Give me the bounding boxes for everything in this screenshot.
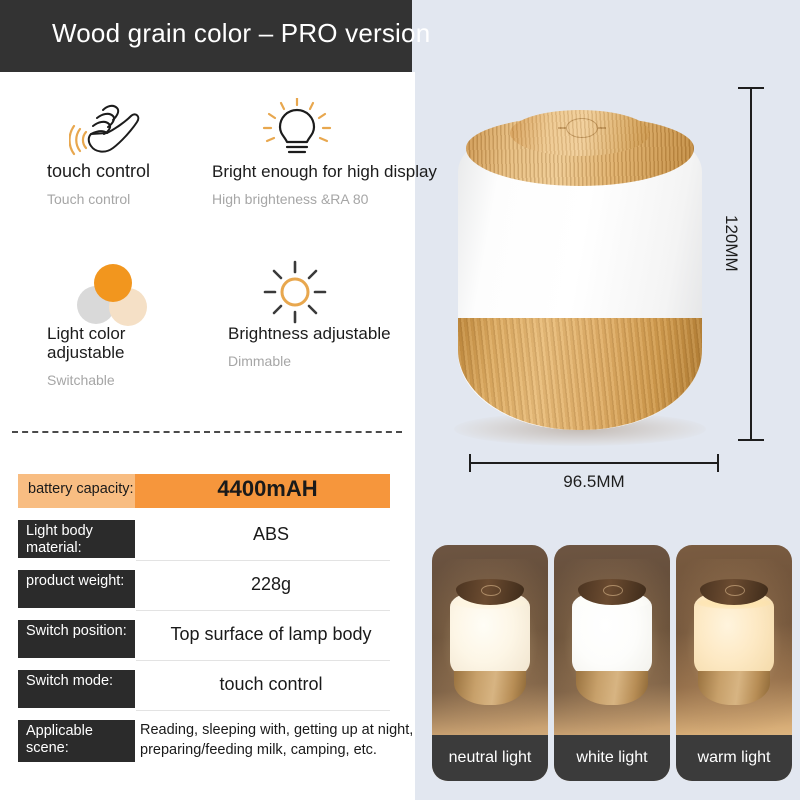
row-rule (136, 660, 390, 661)
width-dim-cap-right (717, 454, 719, 472)
mini-lamp (450, 579, 530, 705)
feature-icon-wrap (47, 262, 167, 324)
table-row-weight: product weight: 228g (18, 570, 390, 620)
feature-subtitle: Dimmable (228, 352, 391, 370)
feature-touch-control: touch control Touch control (47, 100, 150, 208)
mini-lamp-base (698, 671, 770, 705)
touch-sensor-icon (481, 585, 501, 596)
mini-lamp (572, 579, 652, 705)
spec-label: Applicable scene: (18, 720, 135, 762)
color-mode-card-warm[interactable]: warm light (676, 545, 792, 781)
table-row-switch-position: Switch position: Top surface of lamp bod… (18, 620, 390, 670)
spec-value: 4400mAH (140, 476, 395, 502)
spec-table: battery capacity: 4400mAH Light body mat… (18, 474, 390, 770)
feature-title: Brightness adjustable (228, 324, 391, 343)
height-dim-cap-bottom (738, 439, 764, 441)
spec-label: battery capacity: (28, 481, 134, 497)
product-infographic: Wood grain color – PRO version touch con… (0, 0, 800, 800)
height-dimension-label: 120MM (721, 215, 741, 272)
feature-icon-wrap (228, 262, 391, 324)
spec-value: ABS (140, 524, 402, 545)
color-mode-card-white[interactable]: white light (554, 545, 670, 781)
table-row-material: Light body material: ABS (18, 520, 390, 570)
feature-icon-wrap (47, 100, 150, 162)
color-mode-label: white light (554, 735, 670, 781)
feature-brightness-display: Bright enough for high display High brig… (212, 100, 437, 208)
mini-lamp-base (454, 671, 526, 705)
spec-label: Switch position: (18, 620, 135, 658)
table-row-switch-mode: Switch mode: touch control (18, 670, 390, 720)
circle-orange (94, 264, 132, 302)
page-title: Wood grain color – PRO version (52, 18, 430, 49)
spec-value: Top surface of lamp body (140, 624, 402, 645)
color-circles-icon (75, 264, 151, 322)
table-row-applicable-scene: Applicable scene: Reading, sleeping with… (18, 720, 390, 770)
color-mode-card-neutral[interactable]: neutral light (432, 545, 548, 781)
touch-sensor-icon (603, 585, 623, 596)
sun-brightness-icon (262, 260, 328, 324)
product-photo (430, 60, 730, 460)
light-bulb-icon (262, 98, 332, 162)
feature-subtitle: Touch control (47, 190, 150, 208)
spec-label: product weight: (18, 570, 135, 608)
touch-sensor-icon (566, 118, 598, 138)
height-dimension-line (750, 88, 752, 440)
feature-title: Bright enough for high display (212, 162, 437, 181)
spec-value: touch control (140, 674, 402, 695)
color-mode-label: neutral light (432, 735, 548, 781)
color-mode-label: warm light (676, 735, 792, 781)
feature-light-color: Light color adjustable Switchable (47, 262, 167, 389)
spec-value: 228g (140, 574, 402, 595)
spec-label: Switch mode: (18, 670, 135, 708)
row-rule (136, 560, 390, 561)
feature-subtitle: High brighteness &RA 80 (212, 190, 437, 208)
width-dimension-label: 96.5MM (470, 472, 718, 492)
section-divider (12, 431, 402, 433)
touch-hand-icon (69, 100, 155, 162)
color-mode-gallery: neutral light white light (432, 545, 792, 781)
feature-title: Light color adjustable (47, 324, 167, 362)
feature-title: touch control (47, 162, 150, 181)
row-rule (136, 710, 390, 711)
lamp-wood-base (458, 318, 702, 430)
feature-subtitle: Switchable (47, 371, 167, 389)
mini-lamp-base (576, 671, 648, 705)
table-row-battery: battery capacity: 4400mAH (18, 474, 390, 520)
mini-lamp (694, 579, 774, 705)
feature-icon-wrap (212, 100, 437, 162)
width-dimension-line (470, 462, 718, 464)
spec-value: Reading, sleeping with, getting up at ni… (140, 720, 416, 760)
touch-sensor-icon (725, 585, 745, 596)
feature-brightness-adjustable: Brightness adjustable Dimmable (228, 262, 391, 370)
spec-label: Light body material: (18, 520, 135, 558)
row-rule (136, 610, 390, 611)
lamp-top-cap (510, 110, 650, 156)
